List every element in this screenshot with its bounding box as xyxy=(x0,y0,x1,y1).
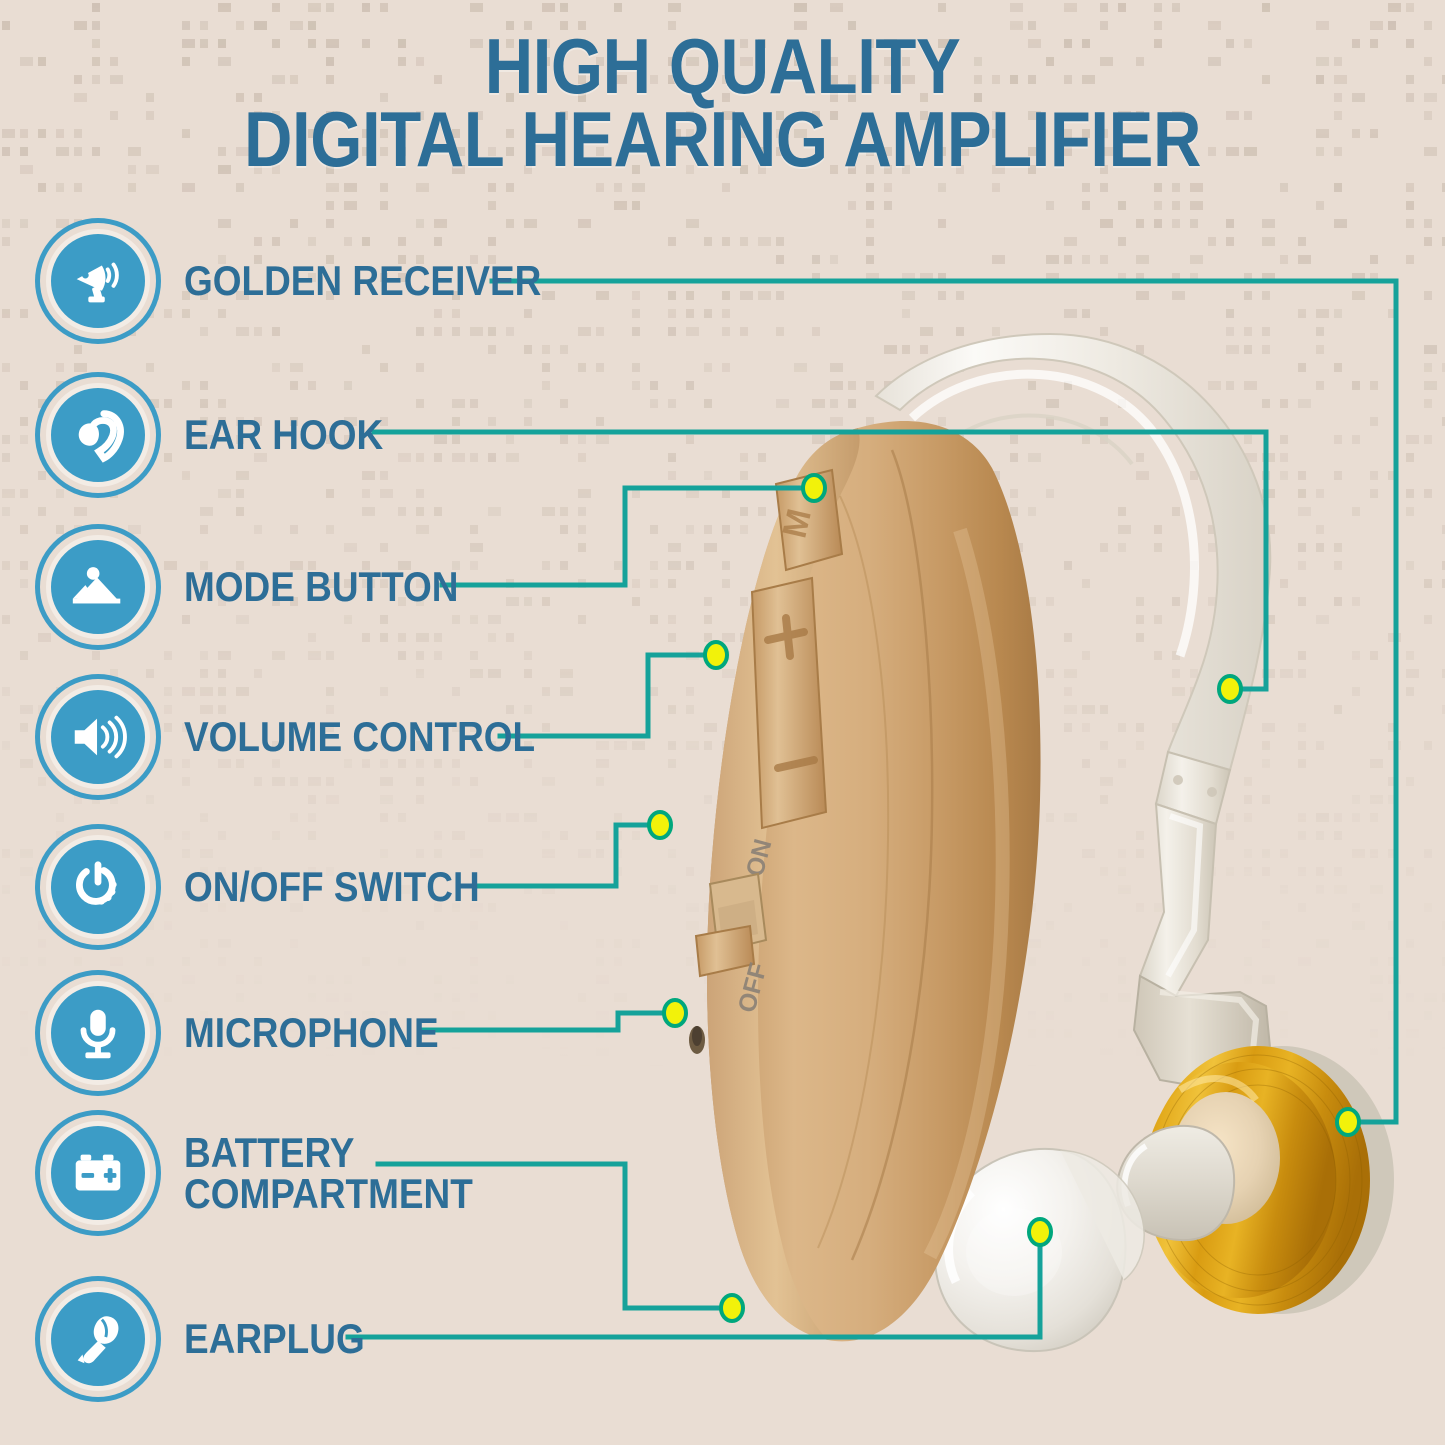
feature-item-volume-control[interactable]: VOLUME CONTROL xyxy=(46,682,583,792)
feature-item-ear-hook[interactable]: EAR HOOK xyxy=(46,380,410,490)
feature-label-earplug: EARPLUG xyxy=(184,1318,365,1359)
feature-label-ear-hook: EAR HOOK xyxy=(184,414,383,455)
feature-item-on-off-switch[interactable]: ON/OFF SWITCH xyxy=(46,832,520,942)
feature-callout-list: GOLDEN RECEIVER EAR HOOK MODE BUTTON xyxy=(0,0,1445,1445)
feature-label-battery-compartment: BATTERY COMPARTMENT xyxy=(184,1132,473,1214)
speaker-volume-icon xyxy=(46,685,150,789)
feature-label-on-off-switch: ON/OFF SWITCH xyxy=(184,866,480,907)
power-icon xyxy=(46,835,150,939)
feature-item-battery-compartment[interactable]: BATTERY COMPARTMENT xyxy=(46,1118,512,1228)
title-line-2: DIGITAL HEARING AMPLIFIER xyxy=(101,103,1344,176)
feature-item-golden-receiver[interactable]: GOLDEN RECEIVER xyxy=(46,226,590,336)
feature-label-volume-control: VOLUME CONTROL xyxy=(184,716,535,757)
title-line-1: HIGH QUALITY xyxy=(101,30,1344,103)
ear-hook-icon xyxy=(46,383,150,487)
feature-label-mode-button: MODE BUTTON xyxy=(184,566,458,607)
feature-item-earplug[interactable]: EARPLUG xyxy=(46,1284,389,1394)
page-title: HIGH QUALITY DIGITAL HEARING AMPLIFIER xyxy=(0,30,1445,175)
feature-item-mode-button[interactable]: MODE BUTTON xyxy=(46,532,496,642)
satellite-dish-icon xyxy=(46,229,150,333)
feature-label-microphone: MICROPHONE xyxy=(184,1012,439,1053)
feature-label-golden-receiver: GOLDEN RECEIVER xyxy=(184,260,541,301)
landscape-mode-icon xyxy=(46,535,150,639)
feature-item-microphone[interactable]: MICROPHONE xyxy=(46,978,473,1088)
microphone-icon xyxy=(46,981,150,1085)
battery-icon xyxy=(46,1121,150,1225)
earplug-icon xyxy=(46,1287,150,1391)
